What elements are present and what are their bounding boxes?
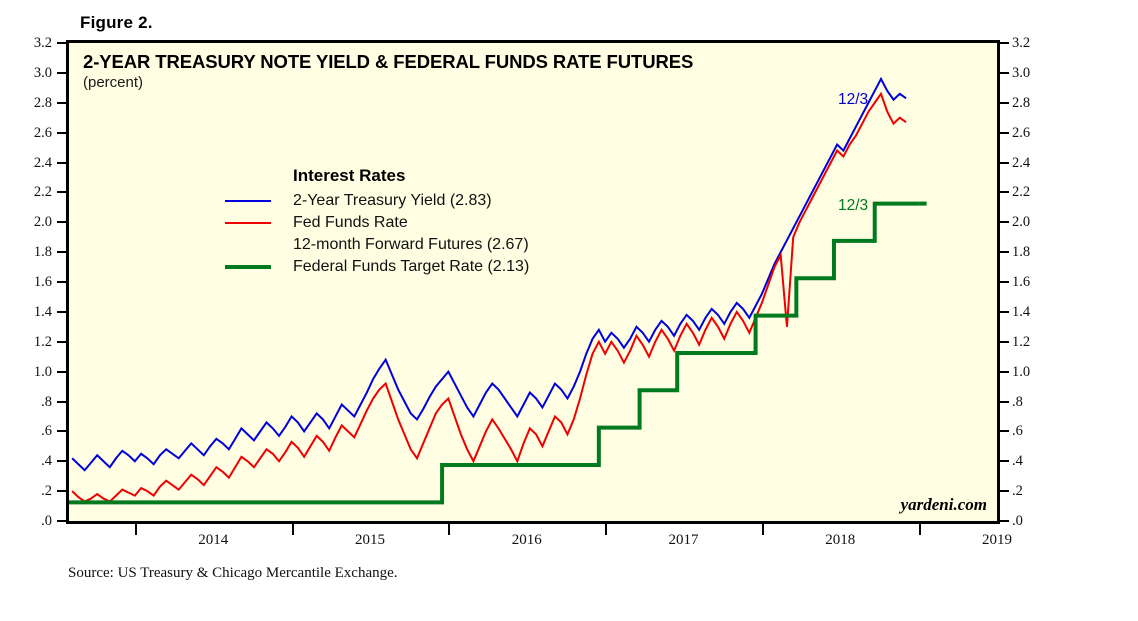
y-axis-tick-label-right: 1.4 — [1012, 305, 1052, 319]
y-axis-tick-mark-right — [1000, 341, 1009, 343]
y-axis-tick-mark-left — [57, 72, 66, 74]
y-axis-tick-mark-right — [1000, 221, 1009, 223]
x-axis-tick-label: 2018 — [800, 532, 880, 549]
y-axis-tick-mark-right — [1000, 520, 1009, 522]
figure-label: Figure 2. — [80, 13, 153, 33]
y-axis-tick-mark-left — [57, 42, 66, 44]
y-axis-tick-mark-left — [57, 102, 66, 104]
y-axis-tick-label-left: 3.2 — [12, 36, 52, 50]
y-axis-tick-mark-right — [1000, 251, 1009, 253]
legend-label: Fed Funds Rate — [293, 214, 408, 232]
y-axis-tick-label-left: 1.4 — [12, 305, 52, 319]
y-axis-tick-label-right: .8 — [1012, 395, 1052, 409]
y-axis-tick-mark-left — [57, 401, 66, 403]
y-axis-tick-label-left: 3.0 — [12, 66, 52, 80]
legend-rows: 2-Year Treasury Yield (2.83)Fed Funds Ra… — [225, 190, 529, 278]
y-axis-tick-mark-right — [1000, 311, 1009, 313]
legend-swatch-cell — [225, 200, 293, 202]
y-axis-tick-label-left: 2.8 — [12, 96, 52, 110]
legend-swatch-cell — [225, 222, 293, 224]
x-axis-tick-label: 2019 — [957, 532, 1037, 549]
chart-inner: 2-YEAR TREASURY NOTE YIELD & FEDERAL FUN… — [69, 43, 997, 521]
y-axis-tick-label-left: 2.4 — [12, 156, 52, 170]
y-axis-tick-label-right: .4 — [1012, 454, 1052, 468]
y-axis-tick-label-right: 2.2 — [1012, 185, 1052, 199]
x-axis-tick-label: 2017 — [643, 532, 723, 549]
y-axis-tick-mark-left — [57, 162, 66, 164]
figure-container: Figure 2. 2-YEAR TREASURY NOTE YIELD & F… — [0, 0, 1138, 621]
series-line — [72, 94, 906, 502]
y-axis-tick-label-left: 2.2 — [12, 185, 52, 199]
legend-label: Federal Funds Target Rate (2.13) — [293, 258, 529, 276]
y-axis-tick-mark-right — [1000, 162, 1009, 164]
y-axis-tick-mark-left — [57, 430, 66, 432]
y-axis-tick-label-left: 2.6 — [12, 126, 52, 140]
x-axis-tick-mark — [292, 524, 294, 535]
y-axis-tick-label-right: 1.0 — [1012, 365, 1052, 379]
y-axis-tick-label-right: .0 — [1012, 514, 1052, 528]
y-axis-tick-mark-left — [57, 490, 66, 492]
legend-item: Federal Funds Target Rate (2.13) — [225, 256, 529, 278]
legend-label-continuation: 12-month Forward Futures (2.67) — [225, 234, 529, 256]
x-axis-tick-label: 2014 — [173, 532, 253, 549]
y-axis-tick-label-right: 3.2 — [1012, 36, 1052, 50]
y-axis-tick-mark-right — [1000, 72, 1009, 74]
y-axis-tick-mark-left — [57, 191, 66, 193]
legend-item: 2-Year Treasury Yield (2.83) — [225, 190, 529, 212]
legend-item: Fed Funds Rate — [225, 212, 529, 234]
y-axis-tick-label-right: 2.0 — [1012, 215, 1052, 229]
y-axis-tick-label-left: 1.2 — [12, 335, 52, 349]
y-axis-tick-mark-left — [57, 251, 66, 253]
y-axis-tick-mark-left — [57, 221, 66, 223]
endpoint-date-label: 12/3 — [838, 197, 868, 215]
endpoint-date-label: 12/3 — [838, 91, 868, 109]
y-axis-tick-label-right: 3.0 — [1012, 66, 1052, 80]
y-axis-tick-label-right: 2.4 — [1012, 156, 1052, 170]
legend-color-swatch — [225, 265, 271, 269]
source-note: Source: US Treasury & Chicago Mercantile… — [68, 565, 398, 582]
x-axis-tick-label: 2015 — [330, 532, 410, 549]
y-axis-tick-mark-right — [1000, 132, 1009, 134]
chart-series-canvas — [69, 43, 997, 521]
y-axis-tick-label-left: .6 — [12, 424, 52, 438]
legend-label: 2-Year Treasury Yield (2.83) — [293, 192, 492, 210]
y-axis-tick-mark-left — [57, 132, 66, 134]
chart-plot-area: 2-YEAR TREASURY NOTE YIELD & FEDERAL FUN… — [66, 40, 1000, 524]
y-axis-tick-mark-right — [1000, 401, 1009, 403]
y-axis-tick-label-right: .6 — [1012, 424, 1052, 438]
y-axis-tick-label-right: 1.6 — [1012, 275, 1052, 289]
y-axis-tick-label-right: 1.2 — [1012, 335, 1052, 349]
y-axis-tick-mark-right — [1000, 430, 1009, 432]
x-axis-tick-mark — [605, 524, 607, 535]
y-axis-tick-mark-left — [57, 520, 66, 522]
x-axis-tick-mark — [762, 524, 764, 535]
watermark: yardeni.com — [901, 495, 987, 515]
y-axis-tick-mark-left — [57, 371, 66, 373]
y-axis-tick-label-right: 2.8 — [1012, 96, 1052, 110]
y-axis-tick-label-left: .2 — [12, 484, 52, 498]
y-axis-tick-mark-left — [57, 460, 66, 462]
y-axis-tick-mark-right — [1000, 490, 1009, 492]
y-axis-tick-label-left: .4 — [12, 454, 52, 468]
x-axis-tick-mark — [448, 524, 450, 535]
y-axis-tick-mark-right — [1000, 191, 1009, 193]
legend-swatch-cell — [225, 265, 293, 269]
x-axis-tick-mark — [135, 524, 137, 535]
x-axis-tick-label: 2016 — [487, 532, 567, 549]
y-axis-tick-mark-right — [1000, 371, 1009, 373]
y-axis-tick-mark-left — [57, 311, 66, 313]
legend-color-swatch — [225, 200, 271, 202]
y-axis-tick-label-left: .8 — [12, 395, 52, 409]
x-axis-tick-mark — [919, 524, 921, 535]
y-axis-tick-label-left: 1.0 — [12, 365, 52, 379]
y-axis-tick-label-right: 1.8 — [1012, 245, 1052, 259]
y-axis-tick-label-left: .0 — [12, 514, 52, 528]
y-axis-tick-label-left: 1.8 — [12, 245, 52, 259]
y-axis-tick-mark-left — [57, 341, 66, 343]
y-axis-tick-label-left: 2.0 — [12, 215, 52, 229]
legend-title: Interest Rates — [225, 166, 529, 186]
y-axis-tick-mark-right — [1000, 281, 1009, 283]
y-axis-tick-mark-right — [1000, 102, 1009, 104]
y-axis-tick-mark-right — [1000, 460, 1009, 462]
chart-legend: Interest Rates 2-Year Treasury Yield (2.… — [225, 166, 529, 278]
legend-color-swatch — [225, 222, 271, 224]
y-axis-tick-label-right: 2.6 — [1012, 126, 1052, 140]
y-axis-tick-mark-right — [1000, 42, 1009, 44]
y-axis-tick-label-left: 1.6 — [12, 275, 52, 289]
y-axis-tick-mark-left — [57, 281, 66, 283]
y-axis-tick-label-right: .2 — [1012, 484, 1052, 498]
